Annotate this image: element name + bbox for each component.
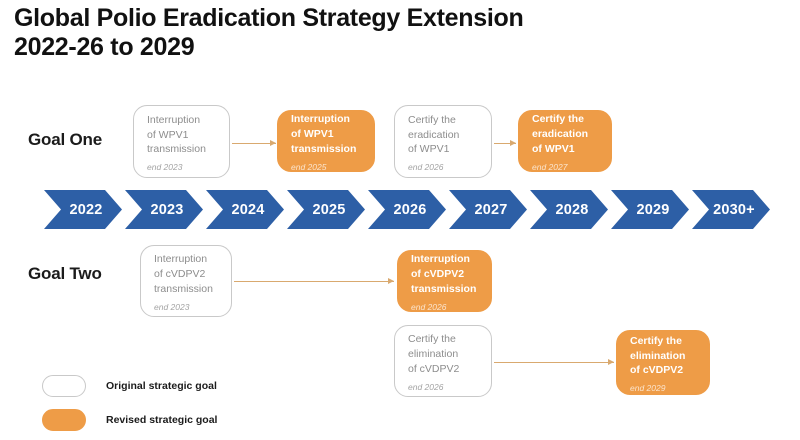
legend-label-revised: Revised strategic goal — [106, 414, 217, 426]
goal-one-original-interruption-box[interactable]: Interruption of WPV1 transmission end 20… — [133, 105, 230, 178]
goal-box-text: Interruption of cVDPV2 transmission — [154, 252, 220, 297]
infographic-canvas: Global Polio Eradication Strategy Extens… — [0, 0, 800, 439]
arrow-goal-two-certify — [494, 355, 614, 369]
goal-two-revised-interruption-box[interactable]: Interruption of cVDPV2 transmission end … — [397, 250, 492, 312]
legend: Original strategic goal Revised strategi… — [42, 372, 217, 440]
goal-box-text: Certify the elimination of cVDPV2 — [408, 332, 480, 377]
legend-swatch-revised-icon — [42, 409, 86, 431]
timeline-year-2022[interactable]: 2022 — [44, 190, 122, 229]
arrow-head-icon — [388, 278, 394, 284]
legend-item-revised: Revised strategic goal — [42, 406, 217, 434]
year-label: 2025 — [312, 202, 345, 218]
goal-one-revised-interruption-box[interactable]: Interruption of WPV1 transmission end 20… — [277, 110, 375, 172]
goal-two-revised-certify-box[interactable]: Certify the elimination of cVDPV2 end 20… — [616, 330, 710, 395]
goal-box-text: Certify the elimination of cVDPV2 — [630, 334, 698, 379]
goal-two-original-certify-box[interactable]: Certify the elimination of cVDPV2 end 20… — [394, 325, 492, 397]
year-label: 2028 — [555, 202, 588, 218]
arrow-head-icon — [510, 140, 516, 146]
goal-box-text: Interruption of WPV1 transmission — [147, 113, 218, 158]
timeline-year-2026[interactable]: 2026 — [368, 190, 446, 229]
timeline-year-2025[interactable]: 2025 — [287, 190, 365, 229]
year-label: 2026 — [393, 202, 426, 218]
year-label: 2027 — [474, 202, 507, 218]
goal-box-date: end 2027 — [532, 162, 600, 172]
arrow-goal-one-certify — [494, 136, 516, 150]
goal-box-date: end 2023 — [147, 162, 218, 172]
year-label: 2029 — [636, 202, 669, 218]
timeline-year-2030-plus[interactable]: 2030+ — [692, 190, 770, 229]
year-label: 2023 — [150, 202, 183, 218]
goal-box-date: end 2023 — [154, 302, 220, 312]
goal-two-label: Goal Two — [28, 264, 102, 284]
year-label: 2022 — [69, 202, 102, 218]
goal-one-original-certify-box[interactable]: Certify the eradication of WPV1 end 2026 — [394, 105, 492, 178]
goal-box-text: Interruption of cVDPV2 transmission — [411, 252, 480, 297]
arrow-shaft — [494, 362, 614, 363]
page-title: Global Polio Eradication Strategy Extens… — [14, 4, 654, 63]
legend-item-original: Original strategic goal — [42, 372, 217, 400]
goal-box-text: Certify the eradication of WPV1 — [408, 113, 480, 158]
goal-box-date: end 2025 — [291, 162, 363, 172]
year-label: 2024 — [231, 202, 264, 218]
goal-two-original-interruption-box[interactable]: Interruption of cVDPV2 transmission end … — [140, 245, 232, 317]
legend-label-original: Original strategic goal — [106, 380, 217, 392]
timeline-year-2023[interactable]: 2023 — [125, 190, 203, 229]
goal-box-date: end 2026 — [411, 302, 480, 312]
goal-one-label: Goal One — [28, 130, 102, 150]
goal-box-text: Certify the eradication of WPV1 — [532, 112, 600, 157]
legend-swatch-original-icon — [42, 375, 86, 397]
timeline-year-2027[interactable]: 2027 — [449, 190, 527, 229]
arrow-goal-one-interruption — [232, 136, 276, 150]
timeline-year-2024[interactable]: 2024 — [206, 190, 284, 229]
arrow-shaft — [234, 281, 394, 282]
arrow-goal-two-interruption — [234, 274, 394, 288]
arrow-head-icon — [608, 359, 614, 365]
timeline-year-2029[interactable]: 2029 — [611, 190, 689, 229]
timeline-band: 2022 2023 2024 2025 2026 2027 2028 2029 … — [44, 190, 770, 229]
timeline-year-2028[interactable]: 2028 — [530, 190, 608, 229]
goal-box-text: Interruption of WPV1 transmission — [291, 112, 363, 157]
arrow-head-icon — [270, 140, 276, 146]
goal-box-date: end 2029 — [630, 383, 698, 393]
year-label: 2030+ — [713, 202, 755, 218]
goal-one-revised-certify-box[interactable]: Certify the eradication of WPV1 end 2027 — [518, 110, 612, 172]
goal-box-date: end 2026 — [408, 162, 480, 172]
goal-box-date: end 2026 — [408, 382, 480, 392]
